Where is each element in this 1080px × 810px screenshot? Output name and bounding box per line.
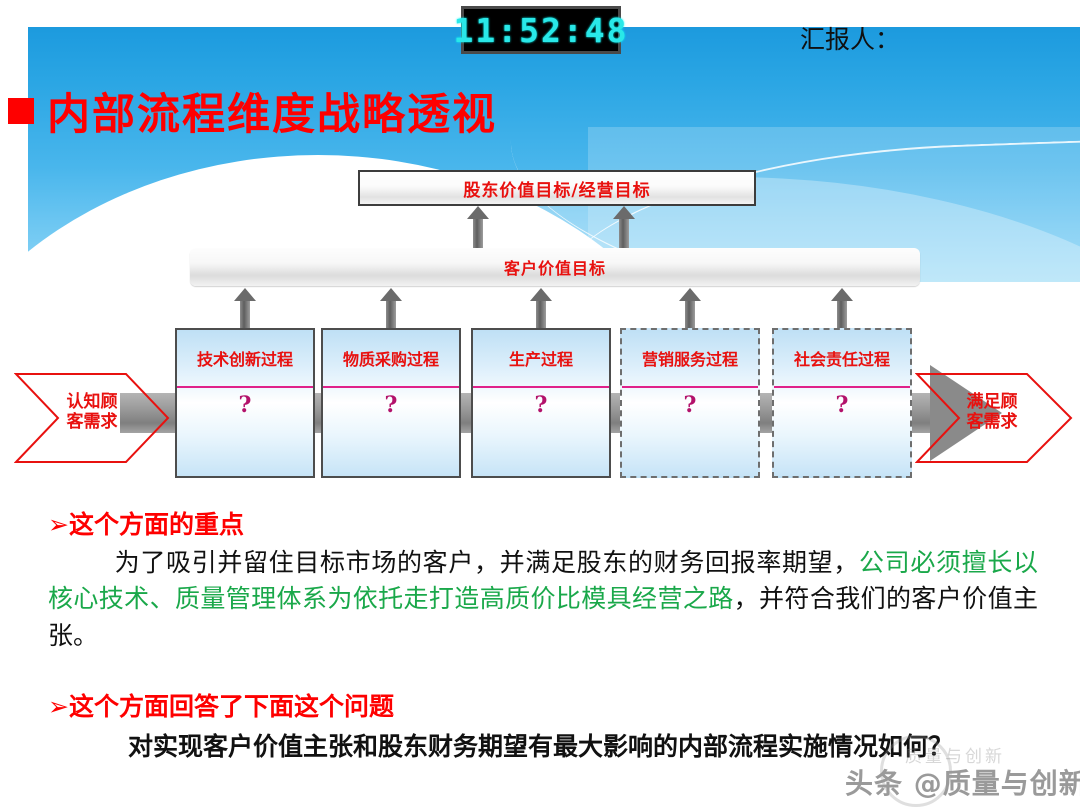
process-divider bbox=[774, 386, 910, 388]
arrow-head-icon bbox=[234, 288, 256, 301]
right-chevron-label: 满足顾 客需求 bbox=[944, 392, 1040, 433]
bullet-heading-1: ➢这个方面的重点 bbox=[48, 505, 244, 541]
process-question-mark: ? bbox=[622, 392, 758, 418]
process-title: 生产过程 bbox=[473, 346, 609, 370]
body-paragraph: 为了吸引并留住目标市场的客户，并满足股东的财务回报率期望，公司必须擅长以核心技术… bbox=[48, 545, 1038, 654]
title-bullet-square-icon bbox=[8, 98, 34, 124]
shareholder-goal-box: 股东价值目标/经营目标 bbox=[358, 170, 756, 206]
process-box-4[interactable]: 营销服务过程 ? bbox=[620, 328, 760, 478]
question-text: 对实现客户价值主张和股东财务期望有最大影响的内部流程实施情况如何？ bbox=[128, 732, 953, 761]
watermark-text: 头条 @质量与创新 bbox=[845, 762, 1080, 802]
process-divider bbox=[622, 386, 758, 388]
process-question-mark: ? bbox=[323, 392, 459, 418]
left-chevron-line-2: 客需求 bbox=[44, 412, 140, 432]
right-chevron-line-1: 满足顾 bbox=[944, 392, 1040, 412]
presenter-label: 汇报人： bbox=[800, 20, 900, 56]
paragraph-part-1: 为了吸引并留住目标市场的客户，并满足股东的财务回报率期望， bbox=[114, 548, 859, 577]
arrow-head-icon bbox=[380, 288, 402, 301]
arrow-head-icon bbox=[613, 206, 635, 219]
left-chevron-line-1: 认知顾 bbox=[44, 392, 140, 412]
page-title: 内部流程维度战略透视 bbox=[47, 80, 497, 142]
process-box-3[interactable]: 生产过程 ? bbox=[471, 328, 611, 478]
process-divider bbox=[473, 386, 609, 388]
process-title: 社会责任过程 bbox=[774, 346, 910, 370]
process-title: 物质采购过程 bbox=[323, 346, 459, 370]
digital-clock: 11:52:48 bbox=[461, 6, 621, 54]
process-question-mark: ? bbox=[774, 392, 910, 418]
process-question-mark: ? bbox=[473, 392, 609, 418]
arrow-head-icon bbox=[831, 288, 853, 301]
process-question-mark: ? bbox=[177, 392, 313, 418]
left-chevron-label: 认知顾 客需求 bbox=[44, 392, 140, 433]
shareholder-goal-label: 股东价值目标/经营目标 bbox=[463, 176, 650, 201]
customer-value-bar: 客户价值目标 bbox=[190, 248, 920, 286]
process-box-1[interactable]: 技术创新过程 ? bbox=[175, 328, 315, 478]
process-diagram: 股东价值目标/经营目标 客户价值目标 bbox=[0, 0, 1080, 500]
process-divider bbox=[323, 386, 459, 388]
bullet-heading-2: ➢这个方面回答了下面这个问题 bbox=[48, 687, 394, 723]
arrow-head-icon bbox=[679, 288, 701, 301]
arrow-head-icon bbox=[530, 288, 552, 301]
arrow-head-icon bbox=[467, 206, 489, 219]
process-title: 营销服务过程 bbox=[622, 346, 758, 370]
slide-root: 11:52:48 汇报人： 内部流程维度战略透视 股东价值目标/经营目标 客户价… bbox=[0, 0, 1080, 810]
process-divider bbox=[177, 386, 313, 388]
customer-value-label: 客户价值目标 bbox=[504, 255, 606, 279]
process-box-5[interactable]: 社会责任过程 ? bbox=[772, 328, 912, 478]
clock-time-text: 11:52:48 bbox=[454, 11, 629, 50]
process-title: 技术创新过程 bbox=[177, 346, 313, 370]
right-chevron-line-2: 客需求 bbox=[944, 412, 1040, 432]
process-box-2[interactable]: 物质采购过程 ? bbox=[321, 328, 461, 478]
